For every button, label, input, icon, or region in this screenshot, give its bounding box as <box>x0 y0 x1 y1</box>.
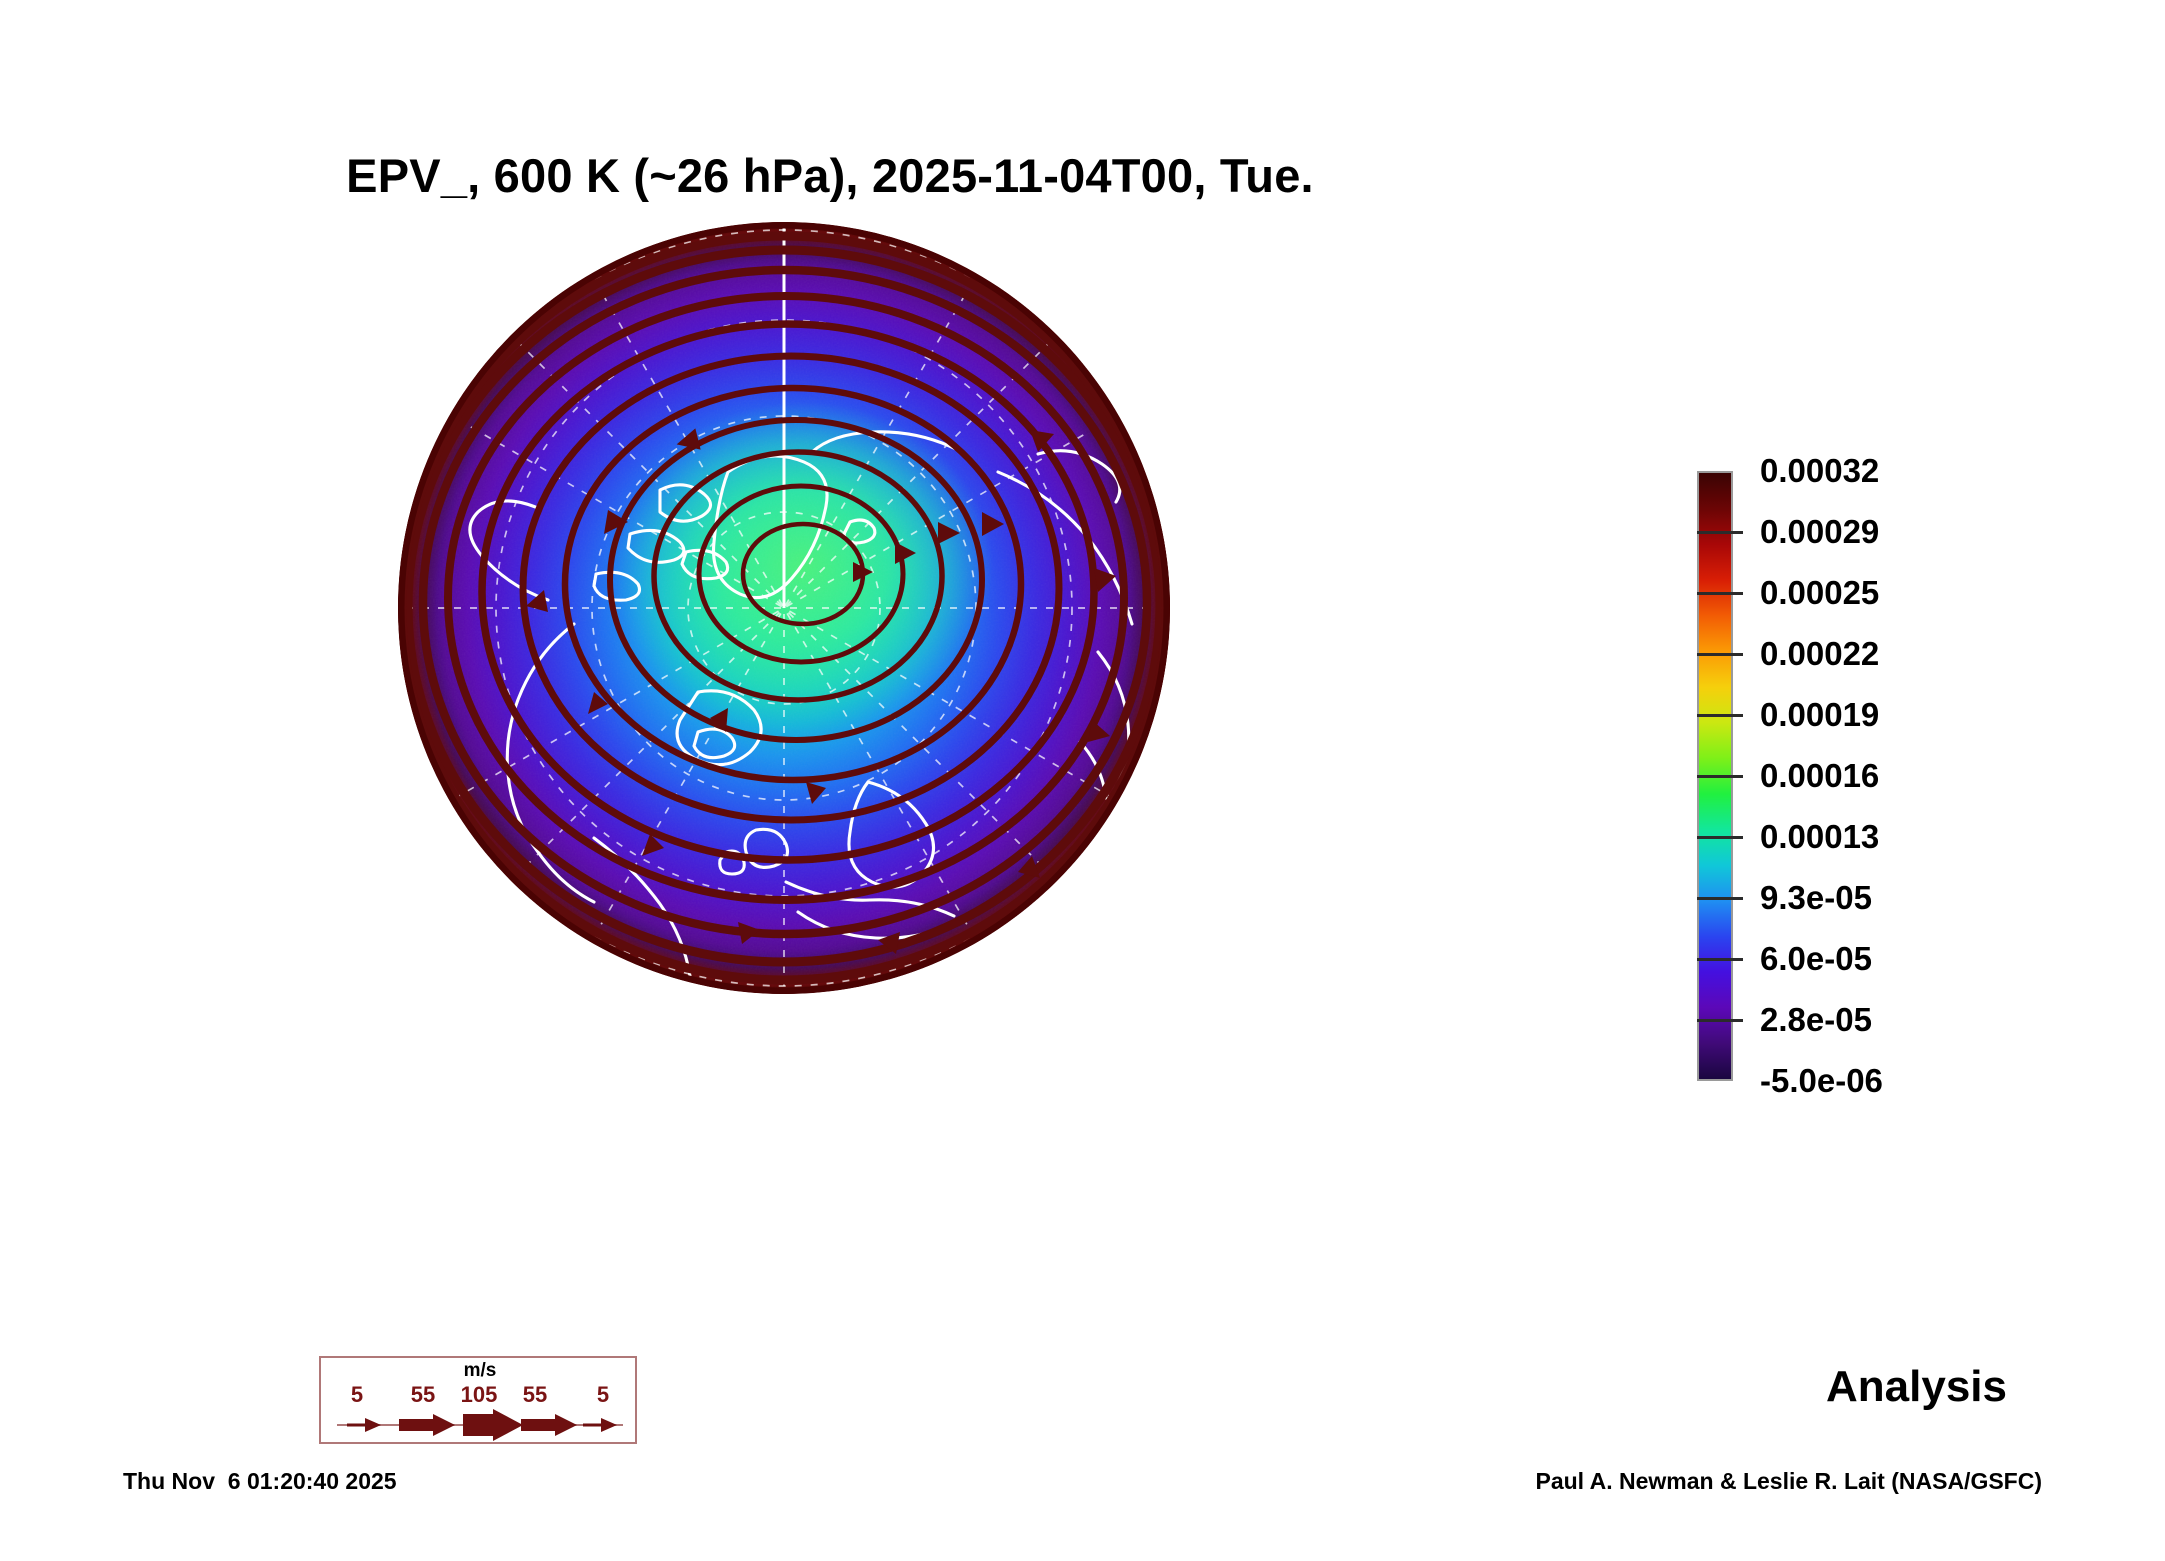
wind-value-label: 5 <box>597 1382 609 1408</box>
footer-credit: Paul A. Newman & Leslie R. Lait (NASA/GS… <box>1535 1468 2042 1495</box>
wind-value-labels: 555105555 <box>321 1382 639 1408</box>
colorbar-tick <box>1697 714 1743 717</box>
colorbar-label: 6.0e-05 <box>1760 940 1872 978</box>
colorbar-tick <box>1697 1019 1743 1022</box>
colorbar-tick <box>1697 592 1743 595</box>
map-canvas <box>398 222 1170 994</box>
colorbar-label: -5.0e-06 <box>1760 1062 1883 1100</box>
wind-speed-legend: m/s 555105555 <box>319 1356 637 1444</box>
colorbar-ticks <box>1697 471 1743 1081</box>
colorbar-label: 0.00025 <box>1760 574 1879 612</box>
wind-unit-label: m/s <box>321 1360 639 1382</box>
colorbar-tick <box>1697 653 1743 656</box>
colorbar-label: 2.8e-05 <box>1760 1001 1872 1039</box>
page-title: EPV_, 600 K (~26 hPa), 2025-11-04T00, Tu… <box>0 148 1660 203</box>
colorbar-tick <box>1697 836 1743 839</box>
colorbar-label: 9.3e-05 <box>1760 879 1872 917</box>
colorbar-labels: 0.000320.000290.000250.000220.000190.000… <box>1760 471 2020 1081</box>
colorbar: 0.000320.000290.000250.000220.000190.000… <box>1697 471 2027 1081</box>
colorbar-tick <box>1697 897 1743 900</box>
colorbar-tick <box>1697 775 1743 778</box>
footer-timestamp: Thu Nov 6 01:20:40 2025 <box>123 1468 397 1495</box>
wind-arrow-scale <box>321 1408 639 1442</box>
colorbar-label: 0.00032 <box>1760 452 1879 490</box>
analysis-label: Analysis <box>1826 1362 2007 1412</box>
colorbar-label: 0.00019 <box>1760 696 1879 734</box>
colorbar-tick <box>1697 958 1743 961</box>
wind-value-label: 55 <box>411 1382 435 1408</box>
colorbar-label: 0.00022 <box>1760 635 1879 673</box>
colorbar-label: 0.00016 <box>1760 757 1879 795</box>
map-disc <box>398 222 1170 994</box>
wind-value-label: 55 <box>523 1382 547 1408</box>
polar-map <box>398 222 1170 994</box>
colorbar-label: 0.00013 <box>1760 818 1879 856</box>
wind-value-label: 5 <box>351 1382 363 1408</box>
wind-value-label: 105 <box>461 1382 498 1408</box>
colorbar-tick <box>1697 531 1743 534</box>
colorbar-label: 0.00029 <box>1760 513 1879 551</box>
